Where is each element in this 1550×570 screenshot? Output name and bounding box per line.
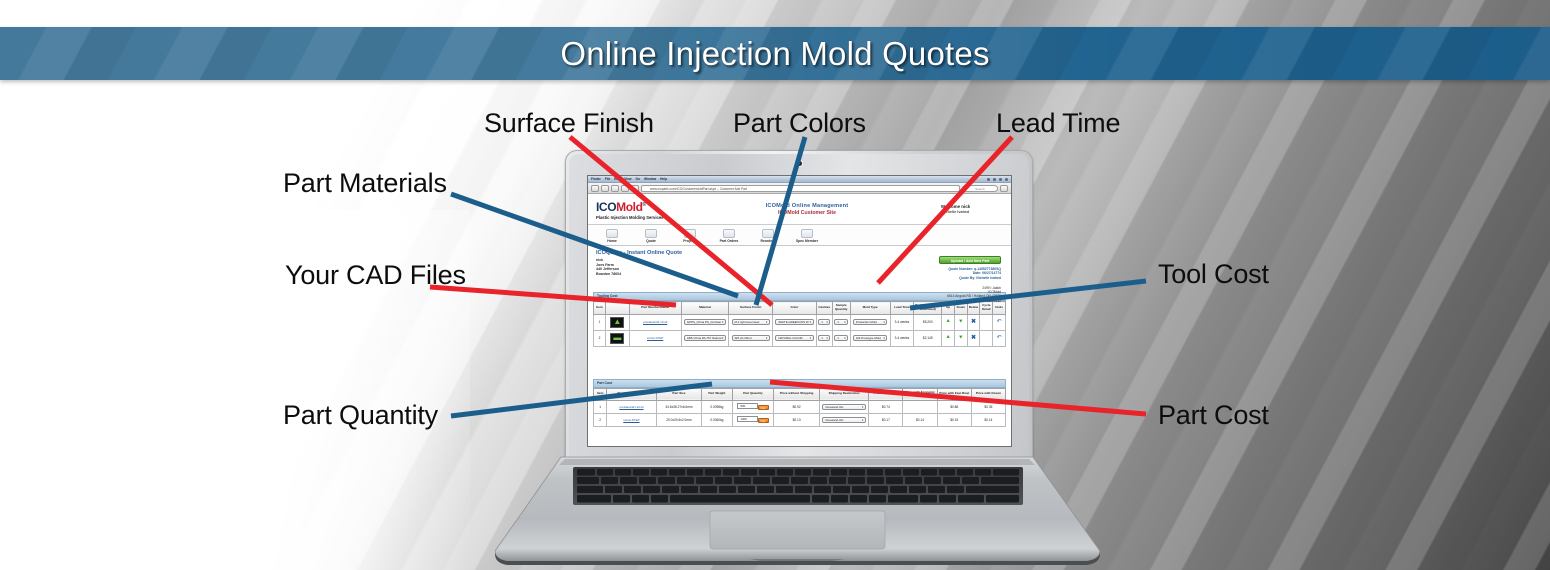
callout-tool-cost: Tool Cost: [1158, 259, 1269, 290]
callout-leader-lines: [0, 0, 1550, 570]
callout-part-cost: Part Cost: [1158, 400, 1269, 431]
callout-lead-time: Lead Time: [996, 108, 1120, 139]
leader-part-colors: [756, 137, 805, 305]
callout-part-quantity: Part Quantity: [283, 400, 438, 431]
callout-surface-finish: Surface Finish: [484, 108, 654, 139]
callout-part-materials: Part Materials: [283, 168, 447, 199]
leader-your-cad-files: [430, 287, 676, 305]
leader-tool-cost: [910, 281, 1146, 308]
callout-part-colors: Part Colors: [733, 108, 866, 139]
callout-your-cad-files: Your CAD Files: [285, 260, 466, 291]
leader-lead-time: [878, 137, 1012, 283]
leader-part-materials: [451, 194, 738, 296]
leader-part-quantity: [451, 384, 712, 416]
leader-surface-finish: [570, 137, 772, 305]
leader-part-cost: [770, 382, 1146, 414]
